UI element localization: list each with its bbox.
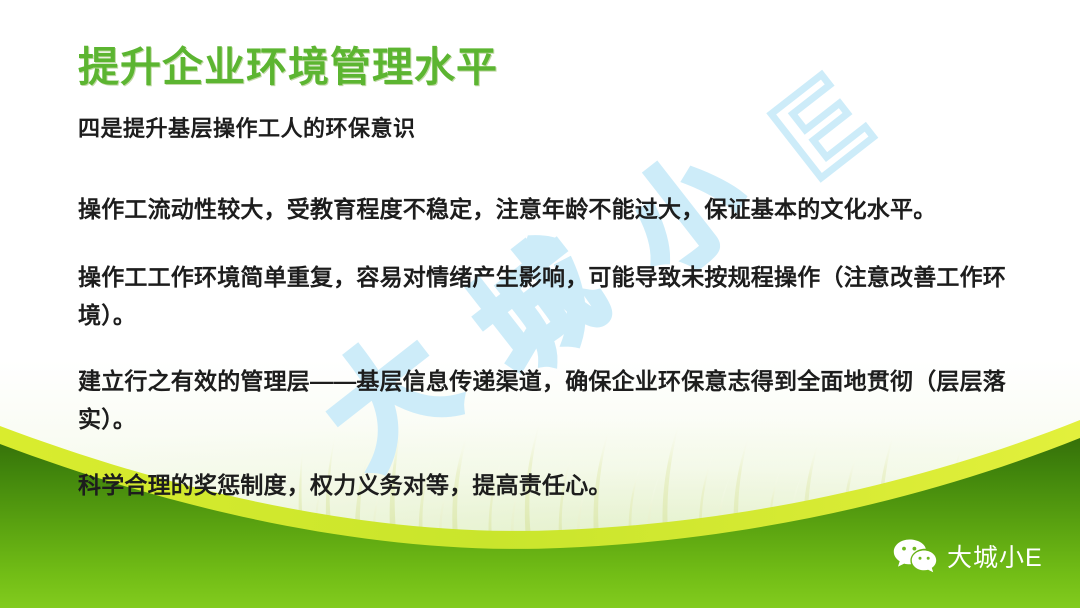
body-paragraph-4: 科学合理的奖惩制度，权力义务对等，提高责任心。 xyxy=(78,466,1008,504)
footer-brand: 大城小E xyxy=(893,538,1043,574)
body-paragraph-2: 操作工工作环境简单重复，容易对情绪产生影响，可能导致未按规程操作（注意改善工作环… xyxy=(78,258,1008,334)
slide-content: 提升企业环境管理水平 四是提升基层操作工人的环保意识 操作工流动性较大，受教育程… xyxy=(0,0,1080,608)
page-title: 提升企业环境管理水平 xyxy=(78,33,498,93)
brand-name-label: 大城小E xyxy=(947,538,1043,574)
body-paragraph-3: 建立行之有效的管理层——基层信息传递渠道，确保企业环保意志得到全面地贯彻（层层落… xyxy=(78,362,1008,438)
wechat-icon xyxy=(893,538,937,574)
body-paragraph-1: 操作工流动性较大，受教育程度不稳定，注意年龄不能过大，保证基本的文化水平。 xyxy=(78,190,1008,228)
slide-canvas: 大 城 小 E xyxy=(0,0,1080,608)
section-heading: 四是提升基层操作工人的环保意识 xyxy=(78,111,416,143)
